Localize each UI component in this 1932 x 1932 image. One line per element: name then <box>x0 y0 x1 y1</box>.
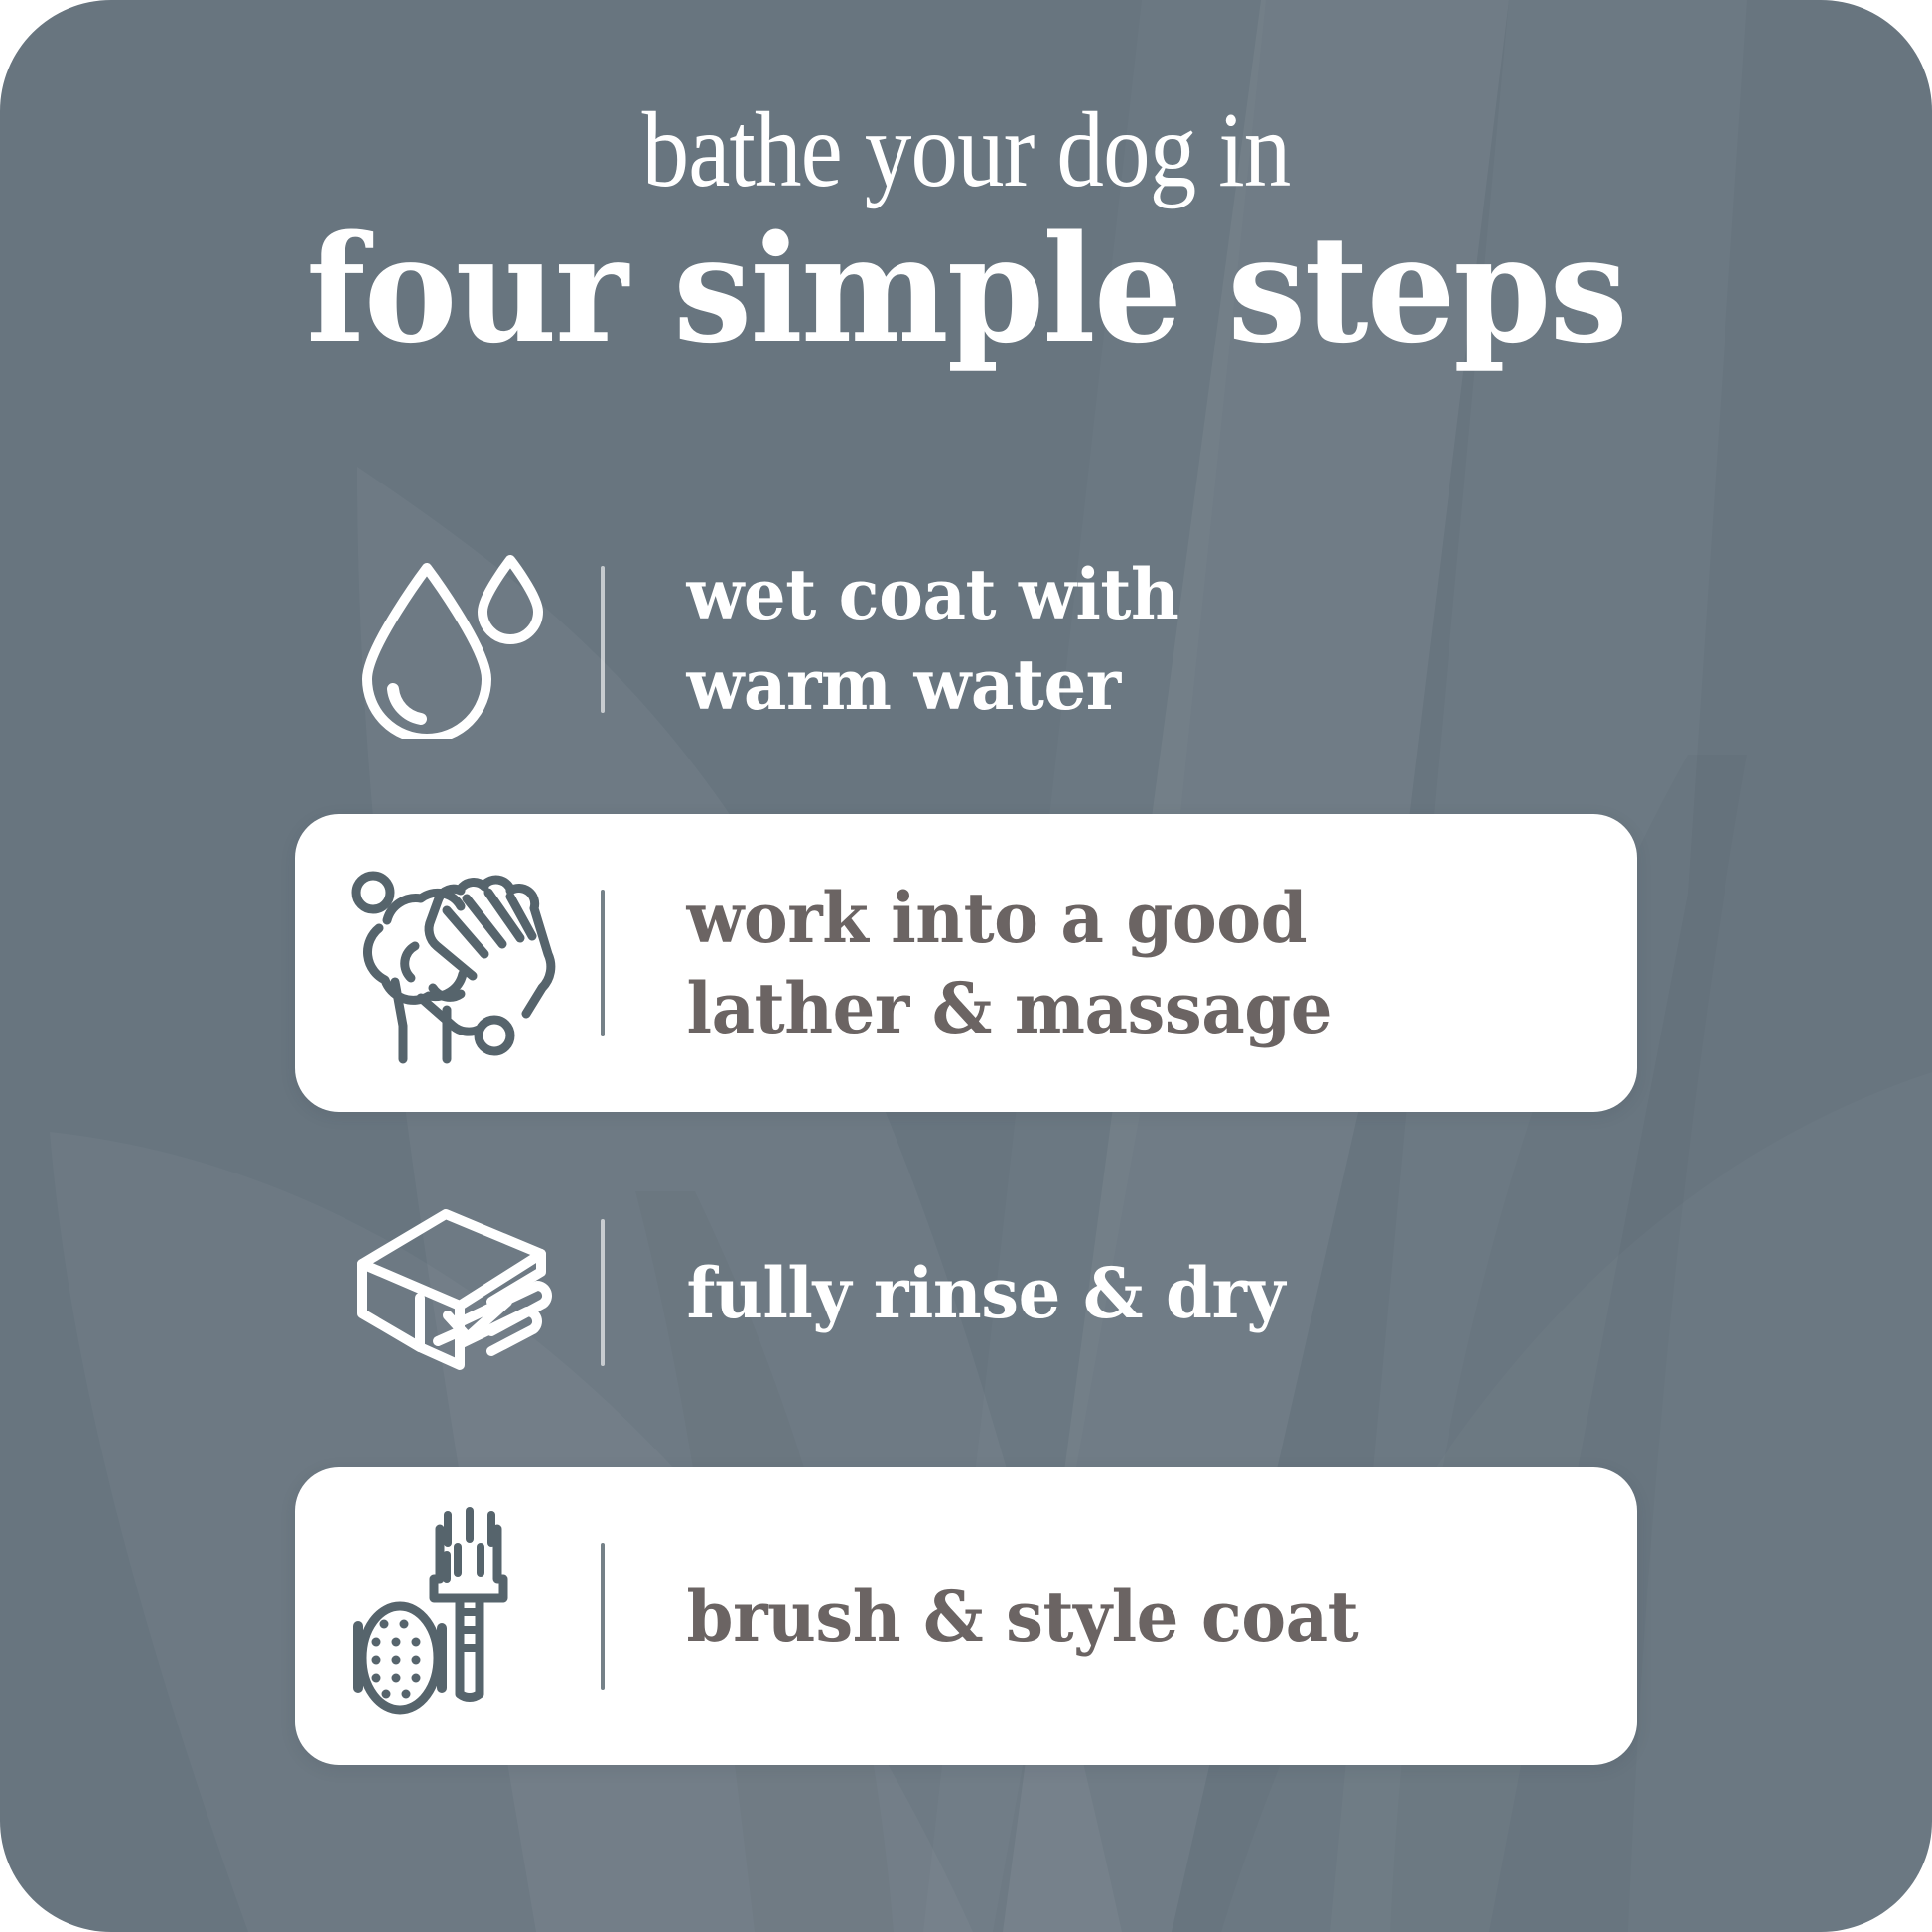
mitt-nubs <box>372 1620 421 1699</box>
step-1-icon-wrap <box>295 540 601 739</box>
spacer-3 <box>0 1416 1932 1467</box>
spacer-2 <box>0 1112 1932 1170</box>
step-3-rinse-dry: fully rinse & dry <box>295 1170 1637 1416</box>
step-1-wet-coat: wet coat with warm water <box>295 516 1637 762</box>
step-4-icon-wrap <box>295 1507 601 1725</box>
step-4-text: brush & style coat <box>605 1572 1595 1662</box>
heading-line-1: bathe your dog in <box>116 95 1816 207</box>
folded-towels-icon <box>343 1198 563 1387</box>
heading-line-2: four simple steps <box>49 214 1884 364</box>
step-4-line-1: brush & style coat <box>687 1572 1596 1662</box>
step-3-line-1: fully rinse & dry <box>687 1248 1596 1338</box>
step-2-text: work into a good lather & massage <box>605 873 1595 1053</box>
step-2-icon-wrap <box>295 859 601 1067</box>
steps-list: wet coat with warm water <box>0 516 1932 1765</box>
grooming-brushes-icon <box>348 1507 557 1725</box>
infographic-panel: bathe your dog in four simple steps wet … <box>0 0 1932 1932</box>
step-2-lather: work into a good lather & massage <box>295 814 1637 1112</box>
step-2-line-2: lather & massage <box>687 963 1596 1053</box>
spacer-1 <box>0 762 1932 814</box>
heading-block: bathe your dog in four simple steps <box>0 95 1932 364</box>
water-drop-icon <box>344 540 562 739</box>
step-4-brush-style: brush & style coat <box>295 1467 1637 1765</box>
step-3-text: fully rinse & dry <box>605 1248 1595 1338</box>
lathering-hands-icon <box>344 859 562 1067</box>
step-1-line-1: wet coat with <box>687 549 1596 639</box>
step-3-icon-wrap <box>295 1198 601 1387</box>
step-1-text: wet coat with warm water <box>605 549 1595 730</box>
step-1-line-2: warm water <box>687 639 1596 730</box>
step-2-line-1: work into a good <box>687 873 1596 963</box>
